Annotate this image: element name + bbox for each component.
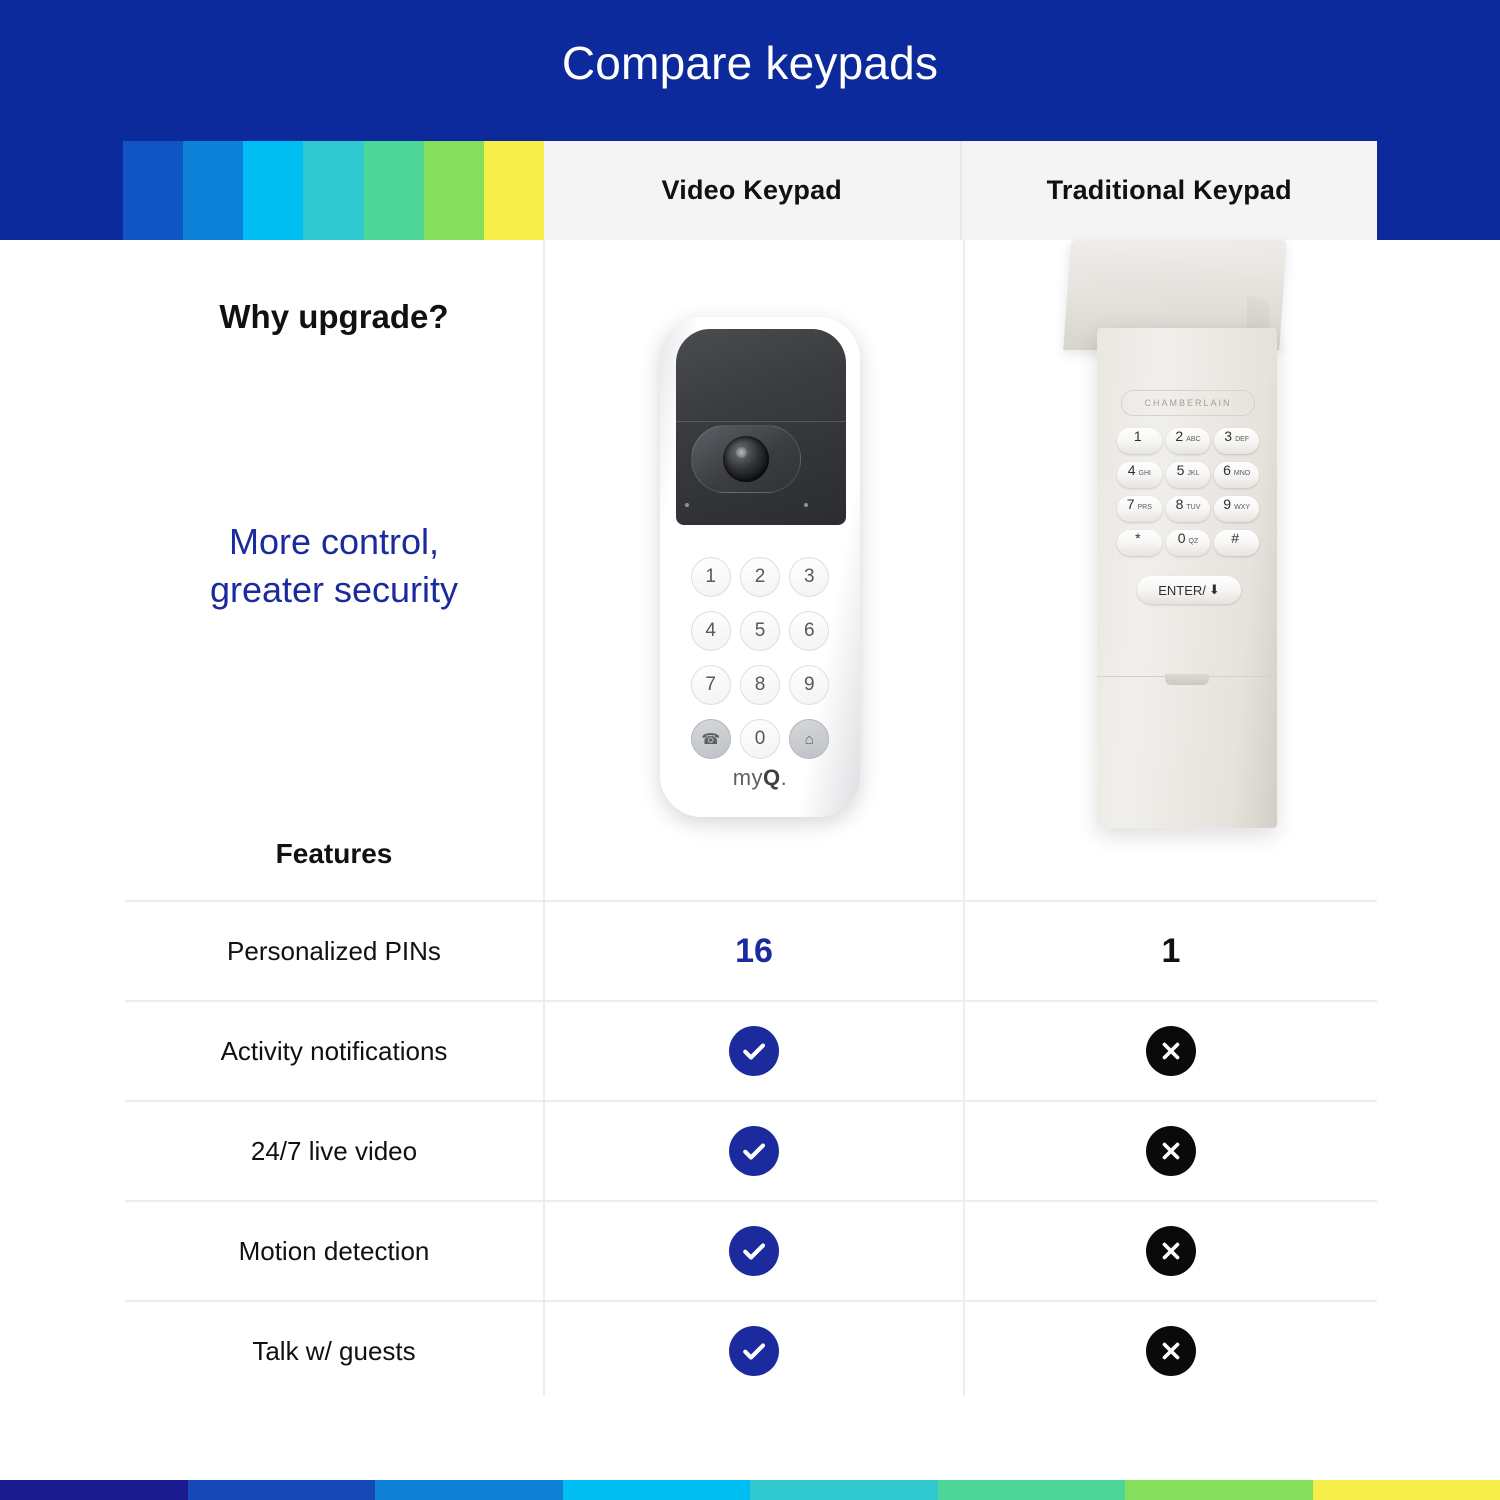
- tk-key-3-sub: DEF: [1235, 436, 1249, 443]
- myq-logo-prefix: my: [733, 765, 763, 790]
- tk-key-7[interactable]: 7 PRS: [1117, 496, 1162, 522]
- myq-logo: myQ.: [660, 765, 860, 791]
- tk-key-5-sub: JKL: [1187, 470, 1199, 477]
- table-row: Motion detection: [125, 1200, 1377, 1300]
- tk-key-hash[interactable]: #: [1214, 530, 1259, 556]
- footer-swatch-6: [1125, 1480, 1313, 1500]
- download-arrow-icon: ⬇: [1209, 582, 1220, 598]
- footer-swatch-3: [563, 1480, 751, 1500]
- tk-key-9[interactable]: 9 WXY: [1214, 496, 1259, 522]
- cross-icon: [1146, 1026, 1196, 1076]
- column-header-row: Video Keypad Traditional Keypad: [544, 141, 1377, 240]
- hero-row: Why upgrade? More control, greater secur…: [125, 240, 1377, 900]
- table-row: Personalized PINs 16 1: [125, 900, 1377, 1000]
- feature-label: Motion detection: [125, 1202, 543, 1300]
- vk-key-4[interactable]: 4: [691, 611, 731, 651]
- feature-value-video-keypad: [545, 1302, 963, 1400]
- footer-swatch-1: [188, 1480, 376, 1500]
- tagline-line-2: greater security: [125, 566, 543, 614]
- vk-key-2[interactable]: 2: [740, 557, 780, 597]
- tk-key-8-sub: TUV: [1186, 504, 1200, 511]
- keypad-latch: [1165, 674, 1209, 685]
- tagline: More control, greater security: [125, 518, 543, 614]
- check-icon: [729, 1226, 779, 1276]
- vk-key-8[interactable]: 8: [740, 665, 780, 705]
- video-keypad-lens-plate: [691, 425, 801, 493]
- camera-lens-icon: [723, 436, 769, 482]
- table-row: 24/7 live video: [125, 1100, 1377, 1200]
- tk-key-9-sub: WXY: [1234, 504, 1250, 511]
- swatch-5: [424, 141, 484, 240]
- footer-swatch-4: [750, 1480, 938, 1500]
- tk-key-hash-num: #: [1231, 530, 1239, 546]
- swatch-0: [123, 141, 183, 240]
- value-number: 1: [1162, 932, 1181, 971]
- tk-key-7-num: 7: [1127, 496, 1135, 512]
- tk-key-4-sub: GHI: [1139, 470, 1151, 477]
- tk-key-star-num: *: [1135, 530, 1140, 546]
- comparison-sheet: Why upgrade? More control, greater secur…: [0, 240, 1500, 1480]
- hero-video-keypad-cell: 1 2 3 4 5 6 7 8 9 ☎ 0 ⌂ myQ.: [545, 240, 963, 900]
- feature-label: Talk w/ guests: [125, 1302, 543, 1400]
- vk-key-5[interactable]: 5: [740, 611, 780, 651]
- tk-key-2[interactable]: 2 ABC: [1166, 428, 1211, 454]
- cross-icon: [1146, 1126, 1196, 1176]
- video-keypad-image: 1 2 3 4 5 6 7 8 9 ☎ 0 ⌂ myQ.: [660, 317, 860, 817]
- swatch-1: [183, 141, 243, 240]
- feature-value-video-keypad: [545, 1202, 963, 1300]
- tk-key-0-num: 0: [1178, 530, 1186, 546]
- column-divider-1: [543, 240, 545, 1396]
- traditional-keypad-image: CHAMBERLAIN 1 2 ABC 3: [1051, 240, 1301, 840]
- tk-key-6[interactable]: 6 MNO: [1214, 462, 1259, 488]
- feature-value-video-keypad: [545, 1102, 963, 1200]
- comparison-table: Why upgrade? More control, greater secur…: [125, 240, 1377, 1400]
- footer-swatch-5: [938, 1480, 1126, 1500]
- table-row: Talk w/ guests: [125, 1300, 1377, 1400]
- page-title: Compare keypads: [0, 36, 1500, 90]
- header-band: Compare keypads Video Keypad Traditional…: [0, 0, 1500, 240]
- feature-value-traditional-keypad: [965, 1102, 1377, 1200]
- tk-key-3-num: 3: [1224, 428, 1232, 444]
- tk-key-5-num: 5: [1177, 462, 1185, 478]
- feature-value-traditional-keypad: [965, 1002, 1377, 1100]
- table-row: Activity notifications: [125, 1000, 1377, 1100]
- swatch-4: [364, 141, 424, 240]
- feature-label: 24/7 live video: [125, 1102, 543, 1200]
- vk-key-6[interactable]: 6: [789, 611, 829, 651]
- footer-swatch-7: [1313, 1480, 1500, 1500]
- check-icon: [729, 1126, 779, 1176]
- tk-key-1[interactable]: 1: [1117, 428, 1162, 454]
- ir-led-right-icon: [804, 503, 808, 507]
- phone-icon[interactable]: ☎: [691, 719, 731, 759]
- cross-icon: [1146, 1226, 1196, 1276]
- vk-key-7[interactable]: 7: [691, 665, 731, 705]
- swatch-3: [303, 141, 363, 240]
- vk-key-0[interactable]: 0: [740, 719, 780, 759]
- enter-button[interactable]: ENTER/ ⬇: [1137, 576, 1241, 604]
- tk-key-7-sub: PRS: [1138, 504, 1152, 511]
- swatch-6: [484, 141, 544, 240]
- feature-value-video-keypad: 16: [545, 902, 963, 1000]
- tagline-line-1: More control,: [125, 518, 543, 566]
- tk-key-2-num: 2: [1175, 428, 1183, 444]
- vk-key-1[interactable]: 1: [691, 557, 731, 597]
- hero-traditional-keypad-cell: CHAMBERLAIN 1 2 ABC 3: [965, 240, 1377, 900]
- vk-key-3[interactable]: 3: [789, 557, 829, 597]
- tk-key-6-sub: MNO: [1234, 470, 1250, 477]
- tk-key-star[interactable]: *: [1117, 530, 1162, 556]
- feature-label: Personalized PINs: [125, 902, 543, 1000]
- tk-key-1-num: 1: [1134, 428, 1142, 444]
- tk-key-5[interactable]: 5 JKL: [1166, 462, 1211, 488]
- footer-swatch-0: [0, 1480, 188, 1500]
- check-icon: [729, 1326, 779, 1376]
- feature-value-traditional-keypad: 1: [965, 902, 1377, 1000]
- tk-key-4-num: 4: [1128, 462, 1136, 478]
- footer-color-strip: [0, 1480, 1500, 1500]
- tk-key-0[interactable]: 0 QZ: [1166, 530, 1211, 556]
- hero-left-cell: Why upgrade? More control, greater secur…: [125, 240, 543, 900]
- footer-swatch-2: [375, 1480, 563, 1500]
- traditional-keypad-keys: 1 2 ABC 3 DEF: [1117, 428, 1259, 556]
- tk-key-9-num: 9: [1223, 496, 1231, 512]
- tk-key-6-num: 6: [1223, 462, 1231, 478]
- traditional-keypad-body: CHAMBERLAIN 1 2 ABC 3: [1097, 328, 1277, 828]
- enter-button-label: ENTER/: [1158, 583, 1206, 598]
- vk-key-9[interactable]: 9: [789, 665, 829, 705]
- feature-value-video-keypad: [545, 1002, 963, 1100]
- myq-logo-suffix: .: [781, 765, 788, 790]
- tk-key-8-num: 8: [1176, 496, 1184, 512]
- tk-key-2-sub: ABC: [1186, 436, 1200, 443]
- tk-key-4[interactable]: 4 GHI: [1117, 462, 1162, 488]
- column-header-video-keypad: Video Keypad: [544, 141, 960, 240]
- chamberlain-logo: CHAMBERLAIN: [1121, 390, 1255, 416]
- check-icon: [729, 1026, 779, 1076]
- header-color-swatches: [123, 141, 544, 240]
- tk-key-3[interactable]: 3 DEF: [1214, 428, 1259, 454]
- feature-value-traditional-keypad: [965, 1302, 1377, 1400]
- column-divider-2: [963, 240, 965, 1396]
- feature-value-traditional-keypad: [965, 1202, 1377, 1300]
- features-heading: Features: [125, 838, 543, 870]
- ir-led-left-icon: [685, 503, 689, 507]
- why-upgrade-heading: Why upgrade?: [125, 298, 543, 336]
- feature-label: Activity notifications: [125, 1002, 543, 1100]
- swatch-2: [243, 141, 303, 240]
- value-number: 16: [735, 932, 773, 971]
- column-header-traditional-keypad: Traditional Keypad: [960, 141, 1378, 240]
- video-keypad-keys: 1 2 3 4 5 6 7 8 9 ☎ 0 ⌂: [686, 557, 834, 759]
- cross-icon: [1146, 1326, 1196, 1376]
- tk-key-8[interactable]: 8 TUV: [1166, 496, 1211, 522]
- home-icon[interactable]: ⌂: [789, 719, 829, 759]
- myq-logo-mark: Q: [763, 765, 781, 790]
- tk-key-0-sub: QZ: [1189, 538, 1199, 545]
